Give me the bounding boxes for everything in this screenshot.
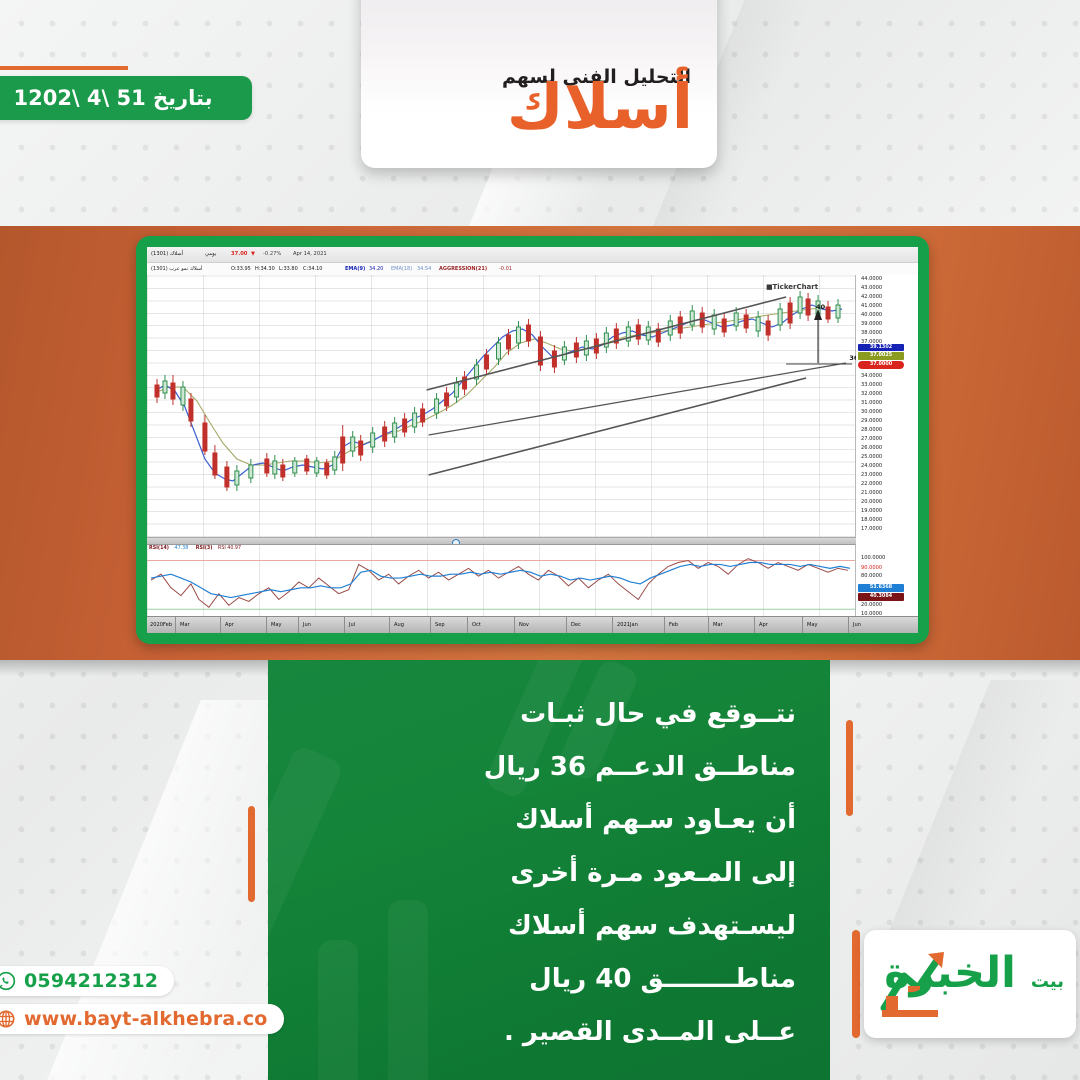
- price-tick: 44.0000: [861, 276, 882, 282]
- analysis-line: نتــوقع في حال ثبـات: [268, 688, 796, 741]
- date-tick: 2021Jan: [617, 622, 638, 628]
- chart-close: C:34.10: [303, 266, 323, 272]
- chart-period: يومي: [205, 251, 216, 257]
- rsi3-line: [151, 559, 848, 608]
- price-tick: 29.0000: [861, 418, 882, 424]
- chart-ema9-value: 34.20: [369, 266, 383, 272]
- candlesticks: [155, 291, 840, 491]
- website-pill[interactable]: www.bayt-alkhebra.co: [0, 1004, 284, 1034]
- chart-low: L:33.80: [279, 266, 298, 272]
- rsi-tag-rsi14: 53.6368: [858, 584, 904, 592]
- brand-logo-text: بيت الخبرة: [884, 952, 1064, 995]
- analysis-line: مناطــق الدعــم 36 ريال: [268, 741, 796, 794]
- accent-bar-right: [846, 720, 853, 816]
- price-tick: 30.0000: [861, 409, 882, 415]
- date-rule: [0, 66, 128, 70]
- price-tick: 40.0000: [861, 312, 882, 318]
- date-axis: 2020Feb Mar Apr May Jun Jul Aug Sep Oct …: [147, 616, 918, 633]
- date-tick: Mar: [180, 622, 190, 628]
- price-tick: 23.0000: [861, 472, 882, 478]
- price-tick: 41.0000: [861, 303, 882, 309]
- chart-high: H:34.30: [255, 266, 275, 272]
- brand-logo-card[interactable]: بيت الخبرة: [864, 930, 1076, 1038]
- analysis-line: عــلى المــدى القصير .: [268, 1006, 796, 1059]
- chart-header-row-1: أسلاك (1301) يومي 37.00 ▼ -0.27% Apr 14,…: [147, 247, 918, 263]
- price-tick: 42.0000: [861, 294, 882, 300]
- date-tick: Mar: [713, 622, 723, 628]
- date-tick: May: [807, 622, 818, 628]
- accent-bar-left: [248, 806, 255, 902]
- poster-canvas: بتاريخ 15 \4 \2021 التحليل الفني لسهم أس…: [0, 0, 1080, 1080]
- price-tag-ema: 39.1302: [858, 344, 904, 352]
- analysis-paragraph: نتــوقع في حال ثبـات مناطــق الدعــم 36 …: [268, 688, 796, 1059]
- price-tick: 21.0000: [861, 490, 882, 496]
- chart-open: O:33.95: [231, 266, 251, 272]
- chart-screenshot[interactable]: أسلاك (1301) يومي 37.00 ▼ -0.27% Apr 14,…: [147, 247, 918, 633]
- chart-symbol: أسلاك (1301): [151, 251, 183, 257]
- price-tick: 43.0000: [861, 285, 882, 291]
- price-tag-avg: 37.0025: [858, 352, 904, 360]
- whatsapp-icon: [0, 971, 16, 991]
- rsi-svg: [147, 545, 855, 617]
- price-tick: 33.0000: [861, 382, 882, 388]
- rsi-tick: 80.0000: [861, 573, 882, 579]
- price-tick: 26.0000: [861, 445, 882, 451]
- chart-trend-arrow-icon: ▼: [251, 251, 255, 257]
- price-pane: ■TickerChart: [147, 275, 856, 537]
- chart-ema18-label: EMA(18): [391, 266, 412, 272]
- candlestick-svg: ■TickerChart: [147, 275, 855, 537]
- chart-date: Apr 14, 2021: [293, 251, 327, 257]
- chart-change-pct: -0.27%: [263, 251, 281, 257]
- price-axis: 44.0000 43.0000 42.0000 41.0000 40.0000 …: [856, 275, 918, 537]
- rsi-tick: 90.0000: [861, 565, 882, 571]
- chart-series-title: أسلاك نمو عرب (1301): [151, 266, 202, 272]
- price-tick: 38.0000: [861, 330, 882, 336]
- date-badge: بتاريخ 15 \4 \2021: [0, 76, 252, 120]
- rsi-tick: 20.0000: [861, 602, 882, 608]
- date-tick: 2020Feb: [150, 622, 172, 628]
- date-tick: May: [271, 622, 282, 628]
- analysis-text-block: نتــوقع في حال ثبـات مناطــق الدعــم 36 …: [268, 660, 830, 1080]
- price-tick: 28.0000: [861, 427, 882, 433]
- date-badge-label: بتاريخ 15 \4 \2021: [13, 86, 212, 110]
- price-tick: 20.0000: [861, 499, 882, 505]
- analysis-line: مناطــــــــق 40 ريال: [268, 953, 796, 1006]
- ema9-line: [155, 305, 842, 481]
- rsi14-line: [151, 563, 850, 598]
- price-tag-last: 37.0000: [858, 361, 904, 369]
- whatsapp-pill[interactable]: 0594212312: [0, 966, 174, 996]
- date-tick: Sep: [435, 622, 445, 628]
- date-tick: Nov: [519, 622, 529, 628]
- band-shadow: [0, 660, 268, 676]
- price-tick: 34.0000: [861, 373, 882, 379]
- date-tick: Jul: [349, 622, 355, 628]
- date-tick: Apr: [759, 622, 768, 628]
- analysis-line: إلى المـعود مـرة أخرى: [268, 847, 796, 900]
- chart-plot-area: ■TickerChart: [147, 275, 918, 633]
- channel-lower-line: [429, 378, 806, 475]
- whatsapp-number: 0594212312: [24, 970, 158, 992]
- date-tick: Apr: [225, 622, 234, 628]
- price-tick: 32.0000: [861, 391, 882, 397]
- rsi-tick: 100.0000: [861, 555, 885, 561]
- price-tick: 24.0000: [861, 463, 882, 469]
- chart-aggression-value: -0.01: [499, 266, 512, 272]
- rsi-pane: RSI(14) 47.38 RSI(3) RSI 40.97: [147, 544, 856, 617]
- date-tick: Feb: [669, 622, 678, 628]
- price-tick: 18.0000: [861, 517, 882, 523]
- brand-logo-word-main: الخبرة: [884, 948, 1016, 998]
- date-tick: Jun: [853, 622, 861, 628]
- website-url: www.bayt-alkhebra.co: [24, 1008, 268, 1030]
- price-tick: 31.0000: [861, 400, 882, 406]
- analysis-line: ليسـتهدف سهم أسلاك: [268, 900, 796, 953]
- chart-ema18-value: 34.54: [417, 266, 431, 272]
- chart-last-price: 37.00: [231, 251, 247, 257]
- date-tick: Jun: [303, 622, 311, 628]
- band-shadow: [830, 660, 1080, 676]
- target-40-arrow-head: [814, 309, 822, 320]
- rsi-axis: 100.0000 90.0000 80.0000 20.0000 10.0000…: [856, 544, 918, 617]
- analysis-line: أن يعـاود سـهم أسلاك: [268, 794, 796, 847]
- channel-upper-line: [427, 297, 786, 390]
- chart-ema9-label: EMA(9): [345, 266, 365, 272]
- rsi-tag-rsi3: 40.3084: [858, 593, 904, 601]
- price-tick: 25.0000: [861, 454, 882, 460]
- price-tick: 19.0000: [861, 508, 882, 514]
- contact-block: 0594212312 www.bayt-alkhebra.co: [0, 966, 284, 1042]
- brand-logo-word-top: بيت: [1031, 971, 1064, 992]
- chart-aggression-label: AGGRESSION(21): [439, 266, 487, 272]
- date-tick: Oct: [472, 622, 481, 628]
- date-tick: Dec: [571, 622, 581, 628]
- annotation-target-40: 40: [816, 303, 825, 311]
- price-tick: 27.0000: [861, 436, 882, 442]
- price-tick: 22.0000: [861, 481, 882, 487]
- tickerchart-watermark: ■TickerChart: [766, 283, 819, 291]
- date-tick: Aug: [394, 622, 404, 628]
- price-tick: 39.0000: [861, 321, 882, 327]
- logo-accent-bar: [852, 930, 860, 1038]
- chart-frame: أسلاك (1301) يومي 37.00 ▼ -0.27% Apr 14,…: [136, 236, 929, 644]
- globe-icon: [0, 1009, 16, 1029]
- price-tick: 17.0000: [861, 526, 882, 532]
- title-stock-name: أسلاك: [507, 76, 693, 138]
- title-card: التحليل الفني لسهم أسلاك: [361, 0, 717, 168]
